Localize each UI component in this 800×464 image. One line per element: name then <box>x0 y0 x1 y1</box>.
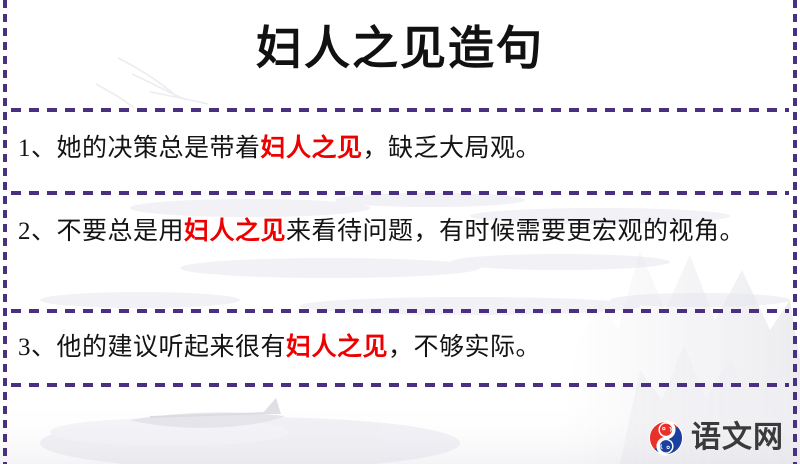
example-sentence-2: 2、不要总是用妇人之见来看待问题，有时候需要更宏观的视角。 <box>18 211 782 253</box>
right-dashed-border <box>793 0 797 464</box>
slide-page: 妇人之见造句 1、她的决策总是带着妇人之见，缺乏大局观。 2、不要总是用妇人之见… <box>0 0 800 464</box>
page-title: 妇人之见造句 <box>0 18 800 80</box>
left-dashed-border <box>3 0 7 464</box>
sentence-3-after: ，不够实际。 <box>388 334 541 361</box>
yinyang-fish-icon <box>648 420 684 456</box>
sentence-1-index: 1、 <box>18 135 57 162</box>
sentence-2-keyword: 妇人之见 <box>184 218 286 245</box>
example-sentence-3: 3、他的建议听起来很有妇人之见，不够实际。 <box>18 327 782 369</box>
sentence-1-before: 她的决策总是带着 <box>57 135 261 162</box>
sentence-2-after: 来看待问题，有时候需要更宏观的视角。 <box>286 218 745 245</box>
sentence-3-before: 他的建议听起来很有 <box>57 334 287 361</box>
sentence-1-after: ，缺乏大局观。 <box>363 135 542 162</box>
example-sentence-1: 1、她的决策总是带着妇人之见，缺乏大局观。 <box>18 128 782 170</box>
separator-rule-after-item-1 <box>11 191 789 195</box>
separator-rule-after-item-2 <box>11 309 789 313</box>
separator-rule-top <box>11 108 789 112</box>
sentence-3-index: 3、 <box>18 334 57 361</box>
sentence-1-keyword: 妇人之见 <box>261 135 363 162</box>
sentence-2-index: 2、 <box>18 218 57 245</box>
sentence-3-keyword: 妇人之见 <box>286 334 388 361</box>
logo-wordmark: 语文网 <box>691 420 784 456</box>
site-logo[interactable]: 语文网 <box>648 420 784 456</box>
separator-rule-bottom <box>11 383 789 387</box>
sentence-2-before: 不要总是用 <box>57 218 185 245</box>
